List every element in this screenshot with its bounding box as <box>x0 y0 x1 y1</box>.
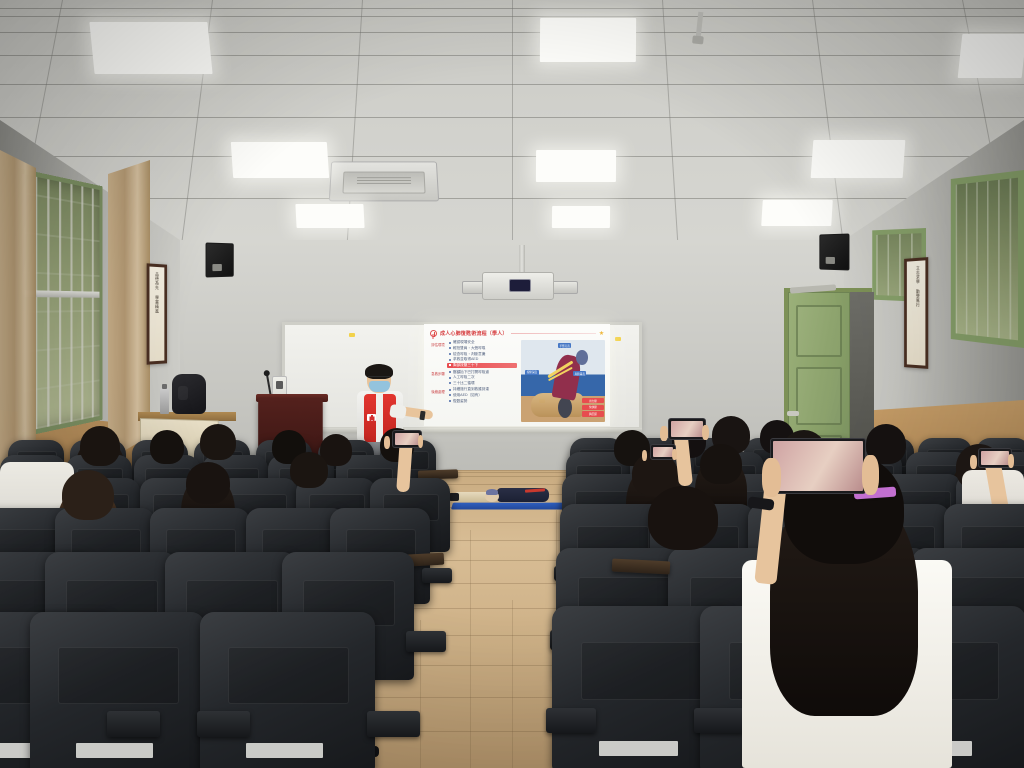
photo-tag-2: 肩膀垂直 <box>573 371 586 376</box>
wristwatch-icon <box>419 411 425 421</box>
projector-mount-rod <box>519 245 525 275</box>
student-hand <box>642 450 647 461</box>
ceiling-light-panel <box>231 142 329 178</box>
slide-item-text: 胸部按壓三十下 <box>453 363 478 368</box>
instructor-sleeve <box>389 404 407 419</box>
slide-item-text: 輕拍雙肩‧大聲呼喚 <box>453 346 485 351</box>
student-hand <box>862 455 879 495</box>
photo-tag-1: 手臂打直 <box>558 343 571 348</box>
slide-item-highlighted: 胸部按壓三十下 <box>447 363 517 369</box>
student-hand <box>702 425 709 441</box>
slide-item-text: 三十比二循環 <box>453 381 475 386</box>
student-hand <box>762 458 781 497</box>
bullet-icon <box>449 364 451 366</box>
ceiling-light-panel <box>89 22 212 74</box>
slide-step-list: 評估環境確認現場安全輕拍雙肩‧大聲呼喚檢查呼吸‧判斷意識求救並取得AED胸部按壓… <box>429 340 517 422</box>
ceiling-light-panel <box>811 140 906 178</box>
student-hand <box>1008 454 1014 468</box>
slide-item: 求救並取得AED <box>447 357 517 363</box>
whiteboard-magnet <box>615 337 621 341</box>
ceiling-air-conditioner <box>329 161 439 201</box>
ceiling-light-panel <box>295 204 364 228</box>
phone-screen[interactable] <box>981 451 1009 465</box>
slide-title: 成人心肺復甦術流程（學人） <box>440 330 508 337</box>
student-head <box>80 426 120 466</box>
manikin-legs <box>455 492 489 502</box>
callout-1: 用力壓 <box>582 398 604 403</box>
manikin-feet <box>449 493 459 501</box>
student-hand <box>384 436 390 449</box>
scroll-left-text: 品德為先 學業精進 <box>154 272 160 356</box>
student-head <box>200 424 236 460</box>
student-head <box>186 462 230 504</box>
door-panel-mid <box>796 367 842 425</box>
phone-screen[interactable] <box>671 421 703 437</box>
student-hand <box>672 449 677 461</box>
bullet-icon <box>449 377 451 379</box>
calligraphy-scroll-right: 立志求學 勤學篤行 <box>904 257 928 369</box>
slide-step-group: 評估環境確認現場安全輕拍雙肩‧大聲呼喚檢查呼吸‧判斷意識求救並取得AED胸部按壓… <box>429 340 517 368</box>
seat-number-label <box>599 741 678 756</box>
cpr-training-manikin <box>455 484 567 506</box>
slide-item-text: 復甦姿勢 <box>453 399 467 404</box>
ceiling-light-panel <box>761 200 833 226</box>
manikin-cap <box>486 489 498 495</box>
slide-item-list: 持續施行直到救護到達使用AED（如有）復甦姿勢 <box>447 387 517 404</box>
bullet-icon <box>449 342 451 344</box>
smartphone[interactable] <box>978 448 1012 468</box>
student-head <box>648 486 718 550</box>
thermos-bottle <box>160 388 169 414</box>
slide-item-text: 確認現場安全 <box>453 340 475 345</box>
ceiling-light-panel <box>552 206 610 228</box>
slide-item-text: 求救並取得AED <box>453 357 478 362</box>
red-cross-logo-icon <box>430 330 437 337</box>
seat-number-label <box>76 743 153 757</box>
ceiling-light-panel <box>536 150 616 182</box>
red-cross-badge-icon <box>367 414 376 421</box>
student-head <box>62 470 114 520</box>
student-head <box>150 430 184 464</box>
slide-body: 評估環境確認現場安全輕拍雙肩‧大聲呼喚檢查呼吸‧判斷意識求救並取得AED胸部按壓… <box>429 340 605 422</box>
slide-item-text: 使用AED（如有） <box>453 393 482 398</box>
slide-item-text: 壓額抬下巴打開呼吸道 <box>453 370 489 375</box>
bullet-icon <box>449 389 451 391</box>
slide-step-group: 急救步驟壓額抬下巴打開呼吸道人工呼吸二次三十比二循環 <box>429 369 517 386</box>
scroll-right-text: 立志求學 勤學篤行 <box>911 266 920 361</box>
slide-group-label: 評估環境 <box>429 340 447 348</box>
slide-item-text: 持續施行直到救護到達 <box>453 387 489 392</box>
seat-armrest <box>107 711 160 737</box>
right-window-bars <box>956 178 1018 341</box>
ceiling-projector <box>482 272 554 300</box>
right-window <box>951 170 1024 348</box>
auditorium-seat <box>30 612 205 768</box>
bullet-icon <box>449 394 451 396</box>
student-hand <box>660 426 668 441</box>
phone-screen[interactable] <box>653 447 673 457</box>
seat-armrest <box>197 711 250 737</box>
door-handle-icon[interactable] <box>787 411 799 416</box>
seat-armrest <box>694 708 744 733</box>
whiteboard-magnet <box>349 333 355 337</box>
seat-number-label <box>246 743 323 757</box>
seat-armrest <box>406 631 446 651</box>
callout-2: 快快壓 <box>582 405 604 410</box>
callout-3: 胸回彈 <box>582 411 604 416</box>
slide-callouts: 用力壓 快快壓 胸回彈 <box>582 398 604 418</box>
student-head <box>700 444 742 484</box>
slide-title-rule <box>511 333 596 334</box>
backpack <box>172 374 206 414</box>
bullet-icon <box>449 359 451 361</box>
projector-lens-icon <box>509 279 531 292</box>
eyeglasses-icon <box>368 376 390 380</box>
student-head <box>290 452 328 488</box>
door-panel-top <box>796 305 842 357</box>
slide-item-text: 檢查呼吸‧判斷意識 <box>453 352 485 357</box>
photo-rescuer-head <box>576 350 588 365</box>
bullet-icon <box>449 400 451 402</box>
slide-item: 復甦姿勢 <box>447 398 517 404</box>
bullet-icon <box>449 347 451 349</box>
bullet-icon <box>449 353 451 355</box>
smartphone[interactable] <box>770 438 866 494</box>
slide-step-group: 後續處理持續施行直到救護到達使用AED（如有）復甦姿勢 <box>429 387 517 404</box>
auditorium-seat <box>200 612 375 768</box>
wall-speaker-right <box>819 233 849 270</box>
bullet-icon <box>449 382 451 384</box>
smartphone[interactable] <box>668 418 706 440</box>
ceiling-light-panel <box>958 34 1024 78</box>
student-hand <box>970 455 977 469</box>
wall-speaker-left <box>206 243 234 278</box>
phone-screen[interactable] <box>395 433 419 445</box>
slide-item-text: 人工呼吸二次 <box>453 375 475 380</box>
seat-armrest <box>546 708 596 733</box>
floor-plank-seam <box>512 600 513 768</box>
classroom-photo-scene: 品德為先 學業精進 立志求學 勤學篤行 成人心肺復甦術流程（學人） 評估環境確認… <box>0 0 1024 768</box>
seat-armrest <box>422 568 452 583</box>
seat-armrest <box>367 711 420 737</box>
phone-screen[interactable] <box>773 441 863 491</box>
projected-slide: 成人心肺復甦術流程（學人） 評估環境確認現場安全輕拍雙肩‧大聲呼喚檢查呼吸‧判斷… <box>424 324 610 426</box>
slide-photo: 手臂打直 肩膀垂直 按壓深度 用力壓 快快壓 胸回彈 <box>521 340 605 422</box>
slide-item: 三十比二循環 <box>447 380 517 386</box>
slide-item-list: 確認現場安全輕拍雙肩‧大聲呼喚檢查呼吸‧判斷意識求救並取得AED胸部按壓三十下 <box>447 340 517 368</box>
floor-plank-seam <box>470 530 471 768</box>
face-mask-icon <box>369 381 390 392</box>
whiteboard-marker-tray <box>282 428 642 433</box>
star-icon <box>599 331 604 336</box>
bullet-icon <box>449 371 451 373</box>
slide-item-list: 壓額抬下巴打開呼吸道人工呼吸二次三十比二循環 <box>447 369 517 386</box>
calligraphy-scroll-left: 品德為先 學業精進 <box>147 263 167 364</box>
curtain-left-outer <box>0 150 36 480</box>
ceiling-light-panel <box>540 18 636 62</box>
slide-header: 成人心肺復甦術流程（學人） <box>430 328 604 338</box>
photo-tag-3: 按壓深度 <box>525 370 538 375</box>
